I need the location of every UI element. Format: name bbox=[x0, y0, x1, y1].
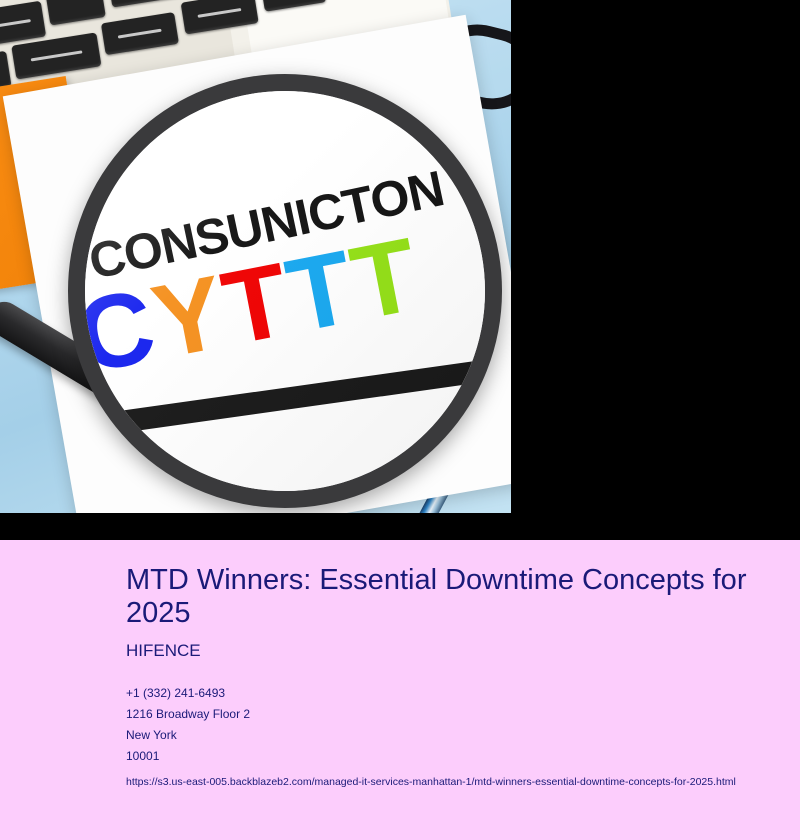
source-url[interactable]: https://s3.us-east-005.backblazeb2.com/m… bbox=[126, 773, 782, 791]
page-root: CONSUNICTON CYTTT MTD Winners: Essential… bbox=[0, 0, 800, 840]
contact-street: 1216 Broadway Floor 2 bbox=[126, 704, 782, 725]
magnifier-lens: CONSUNICTON CYTTT bbox=[68, 74, 502, 508]
magnifying-glass: CONSUNICTON CYTTT bbox=[68, 74, 502, 508]
company-name: HIFENCE bbox=[126, 641, 782, 661]
contact-block: +1 (332) 241-6493 1216 Broadway Floor 2 … bbox=[126, 683, 782, 767]
info-card: MTD Winners: Essential Downtime Concepts… bbox=[0, 540, 800, 840]
contact-city: New York bbox=[126, 725, 782, 746]
contact-postal-code: 10001 bbox=[126, 746, 782, 767]
photo-block: CONSUNICTON CYTTT bbox=[0, 0, 800, 540]
page-title: MTD Winners: Essential Downtime Concepts… bbox=[126, 564, 782, 630]
contact-phone: +1 (332) 241-6493 bbox=[126, 683, 782, 704]
hero-photo: CONSUNICTON CYTTT bbox=[0, 0, 511, 513]
